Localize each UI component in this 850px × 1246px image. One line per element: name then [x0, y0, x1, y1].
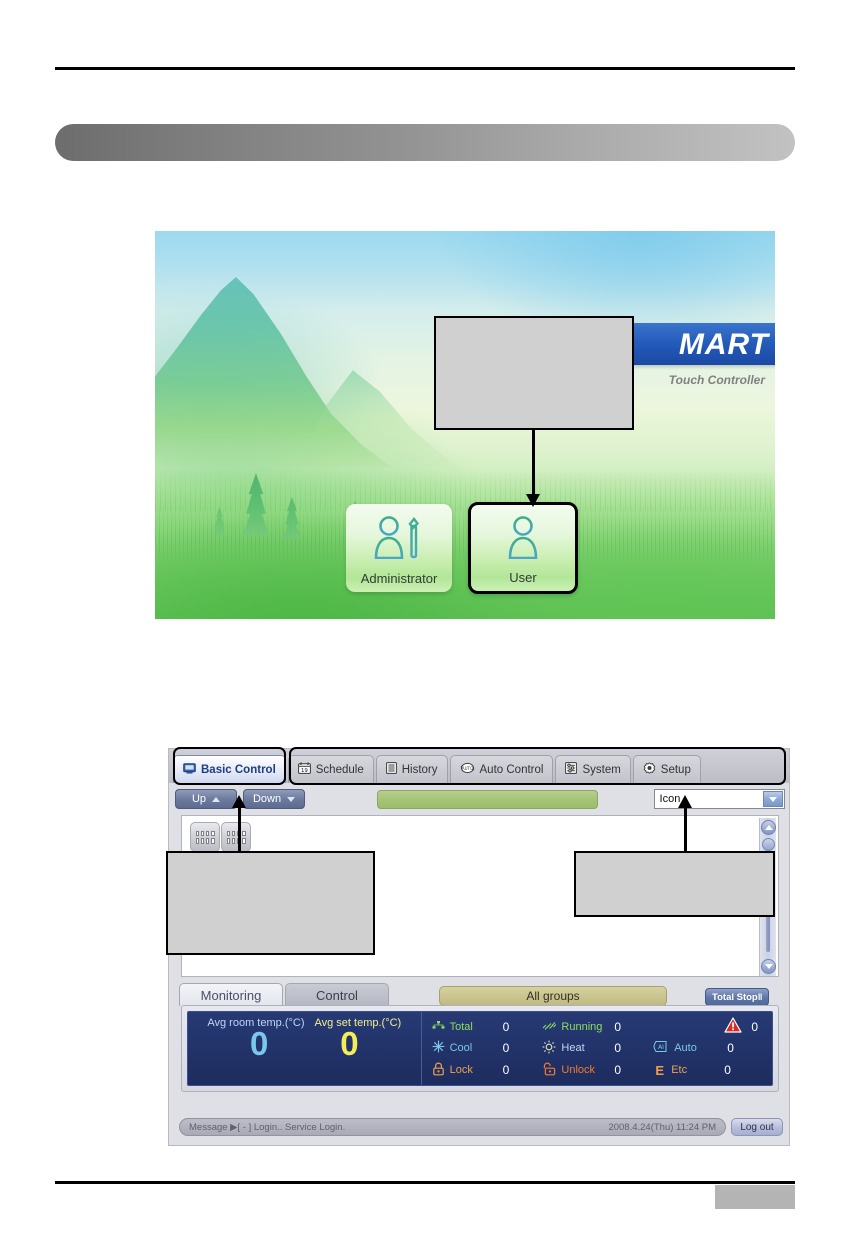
up-button-label: Up	[192, 793, 206, 805]
person-wrench-icon	[372, 504, 426, 569]
tab-schedule[interactable]: 19 Schedule	[288, 755, 374, 783]
main-tab-bar: Basic Control 19 Schedule	[169, 749, 789, 783]
brand-logo-text: MART	[679, 328, 769, 362]
grass-texture-far	[155, 471, 775, 511]
status-value: 0	[727, 1041, 734, 1055]
status-label: Total	[450, 1021, 494, 1033]
padlock-closed-icon	[432, 1062, 445, 1079]
network-icon	[432, 1021, 445, 1033]
manual-page: MART Touch Controller Administrator	[0, 0, 850, 1246]
tab-label: Setup	[661, 764, 691, 776]
status-unlock: Unlock 0	[542, 1062, 653, 1079]
status-label: Heat	[561, 1042, 605, 1054]
tab-label: Basic Control	[201, 764, 276, 776]
status-label: Cool	[450, 1042, 494, 1054]
tab-label: Auto Control	[480, 764, 544, 776]
group-grid-icon[interactable]	[221, 822, 251, 852]
status-message-text: Message ▶[ - ] Login.. Service Login.	[189, 1122, 345, 1133]
callout-arrow-line	[532, 430, 535, 497]
callout-annotation-toolbar	[166, 851, 375, 955]
administrator-label: Administrator	[361, 571, 438, 586]
gear-icon	[643, 762, 656, 778]
status-label: Auto	[674, 1042, 718, 1054]
user-label: User	[509, 570, 536, 585]
tab-auto-control[interactable]: AUTO Auto Control	[450, 755, 554, 783]
status-running: Running 0	[542, 1020, 653, 1034]
status-message-bar: Message ▶[ - ] Login.. Service Login. 20…	[179, 1118, 726, 1136]
callout-arrow-head-left	[232, 795, 246, 808]
callout-annotation-viewmode	[574, 851, 775, 917]
header-rule	[55, 67, 795, 70]
fan-icon	[542, 1020, 556, 1034]
status-total: Total 0	[432, 1020, 543, 1034]
sun-icon	[542, 1040, 556, 1057]
snowflake-icon	[432, 1040, 445, 1056]
status-value: 0	[614, 1063, 621, 1077]
administrator-button[interactable]: Administrator	[346, 504, 452, 592]
status-value: 0	[503, 1041, 510, 1055]
navigation-toolbar: Up Down Icon	[175, 786, 785, 812]
footer-rule	[55, 1181, 795, 1184]
tab-label: Schedule	[316, 764, 364, 776]
status-label: Etc	[671, 1064, 715, 1076]
scroll-down-icon[interactable]	[761, 959, 776, 974]
letter-e-icon: E	[653, 1063, 666, 1078]
status-label: Unlock	[561, 1064, 605, 1076]
chevron-down-icon[interactable]	[763, 791, 783, 807]
view-mode-select[interactable]: Icon	[654, 789, 785, 809]
status-bar: Message ▶[ - ] Login.. Service Login. 20…	[179, 1117, 783, 1137]
svg-text:AUTO: AUTO	[461, 766, 472, 771]
status-label: Running	[561, 1021, 605, 1033]
tab-system[interactable]: System	[555, 755, 630, 783]
header-banner	[55, 124, 795, 161]
auto-ai-icon: AI	[653, 1040, 669, 1056]
status-auto: AI Auto 0	[653, 1040, 764, 1056]
list-document-icon	[386, 762, 397, 777]
status-error: 0	[653, 1017, 764, 1036]
chevron-down-icon	[287, 797, 295, 802]
tab-control[interactable]: Control	[285, 983, 389, 1006]
scrollbar-thumb[interactable]	[762, 838, 775, 851]
avg-set-temp-value: 0	[340, 1027, 358, 1060]
page-number	[715, 1185, 795, 1209]
status-datetime: 2008.4.24(Thu) 11:24 PM	[608, 1122, 716, 1133]
scroll-up-icon[interactable]	[761, 820, 776, 835]
average-temperature-block: Avg room temp.(°C) Avg set temp.(°C) 0 0	[188, 1012, 422, 1085]
group-selector[interactable]: All groups	[439, 986, 667, 1006]
monitoring-summary-panel: Avg room temp.(°C) Avg set temp.(°C) 0 0	[181, 1005, 779, 1092]
status-value: 0	[724, 1063, 731, 1077]
monitor-control-tabbar: Monitoring Control All groups Total Stop…	[179, 982, 781, 1006]
brand-logo-subtitle: Touch Controller	[669, 373, 765, 387]
callout-annotation-login	[434, 316, 634, 430]
breadcrumb-path-bar[interactable]	[377, 790, 598, 809]
tab-history[interactable]: History	[376, 755, 448, 783]
down-button-label: Down	[253, 793, 281, 805]
group-grid-icon[interactable]	[190, 822, 220, 852]
total-stop-button[interactable]: Total Stop‖	[705, 988, 769, 1006]
status-lock: Lock 0	[432, 1062, 543, 1079]
status-etc: E Etc 0	[653, 1063, 764, 1078]
status-value: 0	[614, 1041, 621, 1055]
padlock-open-icon	[542, 1062, 556, 1079]
status-value: 0	[614, 1020, 621, 1034]
svg-text:19: 19	[301, 768, 308, 774]
tab-monitoring[interactable]: Monitoring	[179, 983, 283, 1006]
tab-label: System	[582, 764, 620, 776]
svg-text:AI: AI	[658, 1044, 664, 1051]
up-button[interactable]: Up	[175, 789, 237, 809]
warning-triangle-icon	[724, 1017, 742, 1036]
status-value: 0	[503, 1063, 510, 1077]
callout-arrow-head	[526, 494, 540, 507]
status-counter-grid: Total 0	[422, 1012, 772, 1085]
person-icon	[506, 505, 540, 568]
callout-arrow-head-right	[678, 795, 692, 808]
logout-button[interactable]: Log out	[731, 1118, 783, 1136]
status-label: Lock	[450, 1064, 494, 1076]
auto-cycle-icon: AUTO	[460, 762, 475, 777]
sliders-icon	[565, 762, 577, 777]
status-value: 0	[751, 1020, 758, 1034]
status-cool: Cool 0	[432, 1040, 543, 1056]
calendar-19-icon: 19	[298, 762, 311, 777]
status-heat: Heat 0	[542, 1040, 653, 1057]
user-button[interactable]: User	[468, 502, 578, 594]
status-value: 0	[503, 1020, 510, 1034]
tab-setup[interactable]: Setup	[633, 755, 701, 783]
monitor-icon	[183, 763, 196, 777]
avg-room-temp-value: 0	[250, 1027, 268, 1060]
down-button[interactable]: Down	[243, 789, 305, 809]
group-icon-list	[190, 822, 251, 852]
tab-basic-control[interactable]: Basic Control	[173, 755, 286, 783]
tab-label: History	[402, 764, 438, 776]
chevron-up-icon	[212, 797, 220, 802]
